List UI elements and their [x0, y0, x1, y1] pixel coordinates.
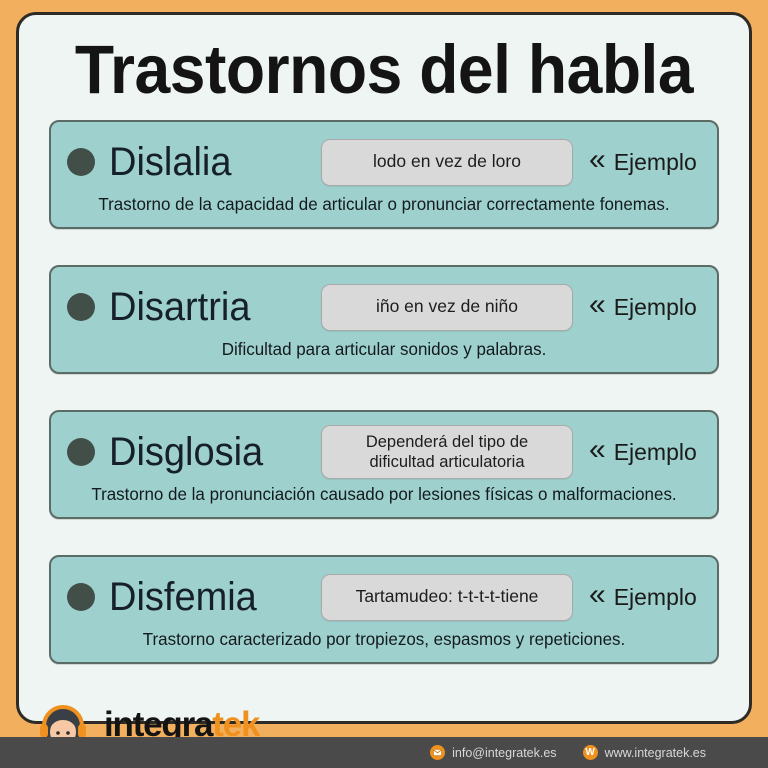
example-chip: Tartamudeo: t-t-t-t-tiene [321, 574, 573, 621]
example-chip: lodo en vez de loro [321, 139, 573, 186]
disorder-description: Trastorno de la capacidad de articular o… [77, 194, 692, 217]
example-tag: « Ejemplo [589, 437, 697, 467]
disorder-name: Dislalia [109, 141, 310, 183]
example-text: Dependerá del tipo de dificultad articul… [366, 432, 528, 472]
card-header-row: Disglosia Dependerá del tipo de dificult… [67, 422, 701, 482]
example-label: Ejemplo [614, 439, 697, 466]
disorder-card[interactable]: Disfemia Tartamudeo: t-t-t-t-tiene « Eje… [49, 555, 719, 664]
example-text: iño en vez de niño [376, 296, 518, 317]
bullet-dot-icon [67, 148, 95, 176]
example-text-line: Dependerá del tipo de [366, 433, 528, 451]
double-chevron-left-icon: « [589, 290, 606, 320]
disorder-card[interactable]: Disartria iño en vez de niño « Ejemplo D… [49, 265, 719, 374]
example-text: lodo en vez de loro [373, 151, 521, 172]
disorder-name: Disfemia [109, 576, 310, 618]
example-tag: « Ejemplo [589, 147, 697, 177]
footer-email[interactable]: info@integratek.es [430, 745, 556, 760]
footer-website-text: www.integratek.es [605, 746, 706, 760]
example-label: Ejemplo [614, 294, 697, 321]
double-chevron-left-icon: « [589, 435, 606, 465]
example-text-line: dificultad articulatoria [370, 453, 525, 471]
disorder-card[interactable]: Disglosia Dependerá del tipo de dificult… [49, 410, 719, 519]
double-chevron-left-icon: « [589, 145, 606, 175]
disorder-card[interactable]: Dislalia lodo en vez de loro « Ejemplo T… [49, 120, 719, 229]
disorder-description: Dificultad para articular sonidos y pala… [77, 339, 692, 362]
disorder-description: Trastorno de la pronunciación causado po… [77, 484, 692, 507]
example-label: Ejemplo [614, 584, 697, 611]
example-text: Tartamudeo: t-t-t-t-tiene [356, 586, 539, 607]
footer-bar: info@integratek.es W www.integratek.es [0, 737, 768, 768]
footer-website[interactable]: W www.integratek.es [583, 745, 706, 760]
page-title: Trastornos del habla [45, 35, 724, 104]
double-chevron-left-icon: « [589, 580, 606, 610]
example-tag: « Ejemplo [589, 582, 697, 612]
infographic-root: Trastornos del habla Dislalia lodo en ve… [0, 0, 768, 768]
disorder-description: Trastorno caracterizado por tropiezos, e… [77, 629, 692, 652]
card-header-row: Dislalia lodo en vez de loro « Ejemplo [67, 132, 701, 192]
bullet-dot-icon [67, 583, 95, 611]
disorder-name: Disglosia [109, 431, 310, 473]
example-chip: Dependerá del tipo de dificultad articul… [321, 425, 573, 479]
bullet-dot-icon [67, 293, 95, 321]
disorder-card-list: Dislalia lodo en vez de loro « Ejemplo T… [19, 120, 749, 664]
envelope-icon [430, 745, 445, 760]
disorder-name: Disartria [109, 286, 310, 328]
example-label: Ejemplo [614, 149, 697, 176]
globe-w-icon: W [583, 745, 598, 760]
card-header-row: Disfemia Tartamudeo: t-t-t-t-tiene « Eje… [67, 567, 701, 627]
content-panel: Trastornos del habla Dislalia lodo en ve… [16, 12, 752, 724]
w-letter: W [585, 748, 594, 758]
bullet-dot-icon [67, 438, 95, 466]
example-chip: iño en vez de niño [321, 284, 573, 331]
card-header-row: Disartria iño en vez de niño « Ejemplo [67, 277, 701, 337]
footer-email-text: info@integratek.es [452, 746, 556, 760]
example-tag: « Ejemplo [589, 292, 697, 322]
